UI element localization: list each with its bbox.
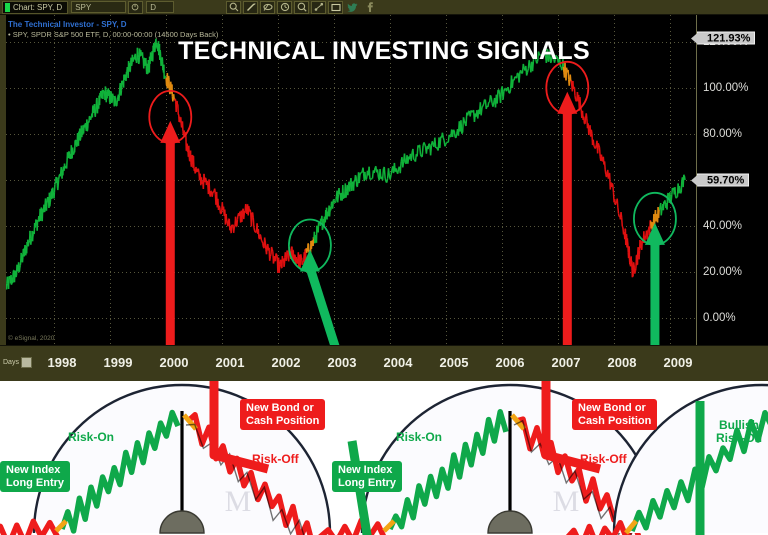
interval-input[interactable]: D xyxy=(146,1,174,13)
gauge-1-risk-on-label: Risk-On xyxy=(68,431,114,444)
pencil-icon[interactable] xyxy=(243,1,258,14)
ellipse-icon[interactable] xyxy=(260,1,275,14)
chart-tab-icon xyxy=(5,3,10,12)
gauge-2-risk-off-label: Risk-Off xyxy=(580,453,627,466)
sell-arrow-2000-head xyxy=(160,121,180,143)
x-tick-2009: 2009 xyxy=(664,355,693,370)
price-chart-panel[interactable]: The Technical Investor - SPY, D • SPY, S… xyxy=(0,15,768,381)
y-axis[interactable]: 120.00% 100.00% 80.00% 40.00% 20.00% 0.0… xyxy=(696,15,768,381)
y-tick-0: 0.00% xyxy=(703,312,736,324)
clock-icon[interactable] xyxy=(277,1,292,14)
chart-tab-label: Chart: SPY, D xyxy=(13,3,62,12)
y-tick-40: 40.00% xyxy=(703,220,742,232)
facebook-icon[interactable] xyxy=(362,1,377,14)
gauge-1-entry-callout: New Index Long Entry xyxy=(0,461,70,492)
gauge-2-entry-callout: New Index Long Entry xyxy=(332,461,402,492)
x-tick-2003: 2003 xyxy=(328,355,357,370)
buy-arrow-2003 xyxy=(310,268,373,345)
zoom-icon[interactable] xyxy=(226,1,241,14)
chart-toolbar: Chart: SPY, D SPY D xyxy=(0,0,768,15)
gauge-watermark-1: M xyxy=(225,485,252,518)
window-icon[interactable] xyxy=(328,1,343,14)
gauge-panel: MM Risk-On Risk-Off New Index Long Entry… xyxy=(0,381,768,535)
x-tick-2000: 2000 xyxy=(160,355,189,370)
x-tick-2008: 2008 xyxy=(608,355,637,370)
chart-tab[interactable]: Chart: SPY, D xyxy=(2,1,68,14)
chart-copyright: © eSignal, 2020 xyxy=(8,335,54,342)
x-axis[interactable]: Days 1998 1999 2000 2001 2002 2003 2004 … xyxy=(0,345,768,382)
x-tick-2007: 2007 xyxy=(552,355,581,370)
x-tick-2005: 2005 xyxy=(440,355,469,370)
y-tick-20: 20.00% xyxy=(703,266,742,278)
x-tick-2001: 2001 xyxy=(216,355,245,370)
magnifier-icon[interactable] xyxy=(294,1,309,14)
x-tick-2004: 2004 xyxy=(384,355,413,370)
last-price-marker[interactable]: 59.70% xyxy=(697,174,749,187)
buy-arrow-2003-head xyxy=(300,250,320,272)
share-icon[interactable] xyxy=(311,1,326,14)
x-tick-2002: 2002 xyxy=(272,355,301,370)
gauge-2-exit-callout: New Bond or Cash Position xyxy=(572,399,657,430)
application-window: Chart: SPY, D SPY D xyxy=(0,0,768,535)
x-tick-1998: 1998 xyxy=(48,355,77,370)
symbol-input[interactable]: SPY xyxy=(71,1,126,13)
y-tick-80: 80.00% xyxy=(703,128,742,140)
chart-header-title: The Technical Investor - SPY, D xyxy=(8,20,218,30)
days-back-label: Days xyxy=(3,359,19,366)
gauge-2-risk-on-label: Risk-On xyxy=(396,431,442,444)
x-tick-2006: 2006 xyxy=(496,355,525,370)
gauge-3-risk-on-label: Bullish Risk-On xyxy=(716,419,762,445)
gauge-watermark-2: M xyxy=(553,485,580,518)
page-title: TECHNICAL INVESTING SIGNALS xyxy=(0,37,768,66)
days-back-button[interactable]: Days xyxy=(3,357,32,368)
bird-icon[interactable] xyxy=(345,1,360,14)
symbol-lookup-icon[interactable] xyxy=(128,1,143,14)
days-back-icon xyxy=(21,357,32,368)
y-tick-100: 100.00% xyxy=(703,82,748,94)
gauge-1-risk-off-label: Risk-Off xyxy=(252,453,299,466)
gauge-1-exit-callout: New Bond or Cash Position xyxy=(240,399,325,430)
x-tick-1999: 1999 xyxy=(104,355,133,370)
